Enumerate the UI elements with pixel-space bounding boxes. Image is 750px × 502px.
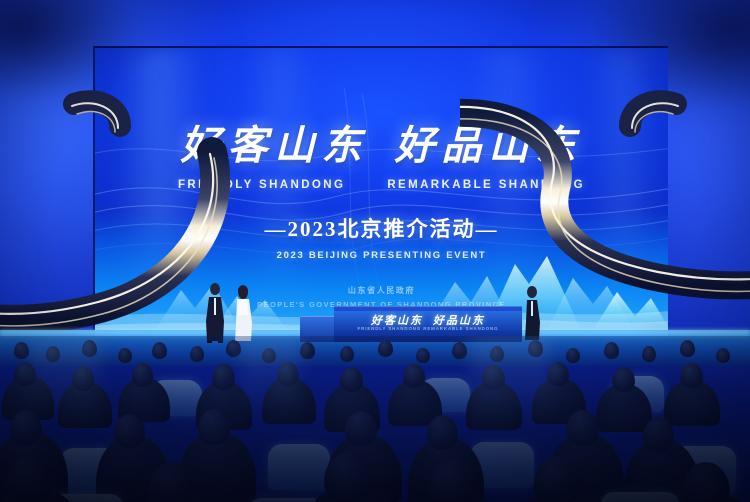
audience-head [642, 346, 656, 362]
audience-head [300, 342, 315, 359]
audience-head [212, 364, 235, 390]
audience-head [277, 362, 299, 386]
stage-person-female-host [229, 283, 257, 343]
audience-head [114, 414, 145, 448]
audience-head [262, 348, 276, 363]
audience-head [340, 346, 354, 362]
audience-head [452, 342, 467, 359]
audience-head [46, 346, 60, 362]
audience-head [416, 348, 430, 363]
audience-head [10, 410, 42, 445]
audience-area [0, 336, 750, 502]
audience-chair-front [600, 492, 680, 502]
audience-head [378, 340, 393, 357]
audience-head [566, 410, 599, 446]
audience-head [152, 342, 167, 359]
ribbon-end-cap-right [618, 88, 688, 152]
audience-head [198, 409, 230, 445]
audience-head [132, 363, 153, 387]
podium-english-text: FRIENDLY SHANDONG REMARKABLE SHANDONG [334, 326, 522, 331]
audience-head [643, 417, 674, 452]
audience-head [190, 346, 204, 362]
audience-head [547, 362, 569, 386]
audience-head [226, 340, 241, 357]
audience-head [680, 363, 703, 388]
ribbon-end-cap-left [62, 88, 132, 152]
audience-head [82, 340, 97, 357]
event-photo-scene: 好客山东好品山东 FRIENDLY SHANDONG REMARKABLE SH… [0, 0, 750, 502]
audience-head [345, 411, 377, 446]
audience-head [612, 367, 635, 392]
audience-head [14, 362, 36, 386]
audience-head [118, 348, 132, 363]
audience-head [716, 348, 730, 363]
audience-head [403, 364, 425, 388]
audience-head [482, 365, 505, 390]
audience-head [72, 366, 94, 391]
audience-head [490, 346, 504, 362]
stage-person-male-host [200, 281, 230, 343]
audience-head [680, 340, 695, 357]
audience-head [14, 342, 29, 359]
audience-head [528, 340, 543, 357]
audience-head [604, 342, 619, 359]
audience-head [566, 348, 580, 363]
stage-person-speaker [519, 284, 545, 342]
audience-chair [268, 444, 330, 490]
audience-head [427, 415, 458, 450]
audience-head [340, 367, 363, 392]
